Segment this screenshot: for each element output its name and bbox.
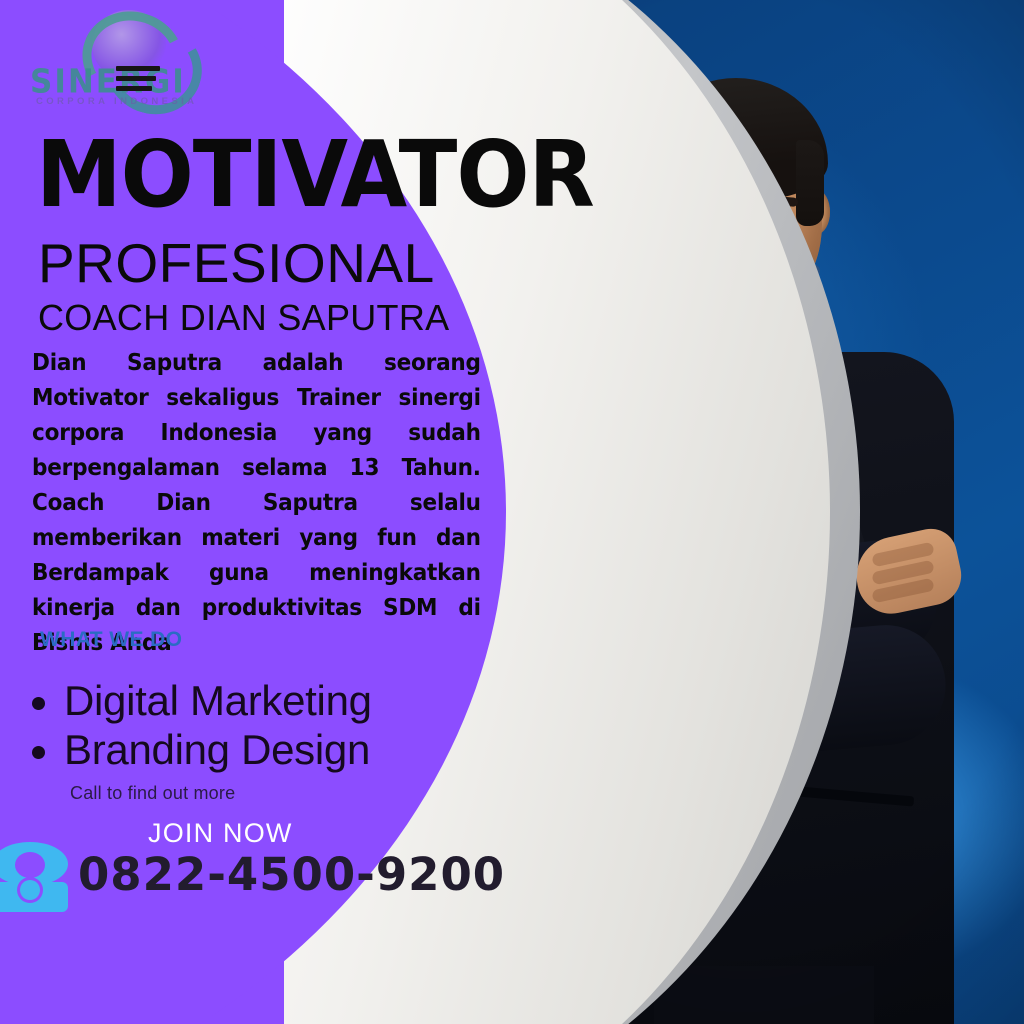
page-title: MOTIVATOR <box>36 133 594 218</box>
content-panel: SINERGI CORPORA INDONESIA MOTIVATOR PROF… <box>0 0 520 1024</box>
join-now-label: JOIN NOW <box>148 818 293 849</box>
telephone-icon <box>0 838 82 912</box>
list-item: Digital Marketing <box>18 676 488 725</box>
list-item: Branding Design <box>18 725 488 774</box>
promotional-poster: SINERGI CORPORA INDONESIA MOTIVATOR PROF… <box>0 0 1024 1024</box>
services-list: Digital Marketing Branding Design <box>18 676 488 774</box>
logo-tagline: CORPORA INDONESIA <box>36 96 236 107</box>
services-label: WHAT WE DO <box>40 628 182 652</box>
coach-name: COACH DIAN SAPUTRA <box>38 300 449 336</box>
phone-number[interactable]: 0822-4500-9200 <box>78 848 505 901</box>
logo-bars-icon <box>116 66 162 96</box>
sinergi-logo: SINERGI CORPORA INDONESIA <box>30 8 230 118</box>
body-paragraph: Dian Saputra adalah seorang Motivator se… <box>32 345 481 660</box>
call-prompt: Call to find out more <box>70 783 235 804</box>
page-subtitle: PROFESIONAL <box>38 236 435 291</box>
